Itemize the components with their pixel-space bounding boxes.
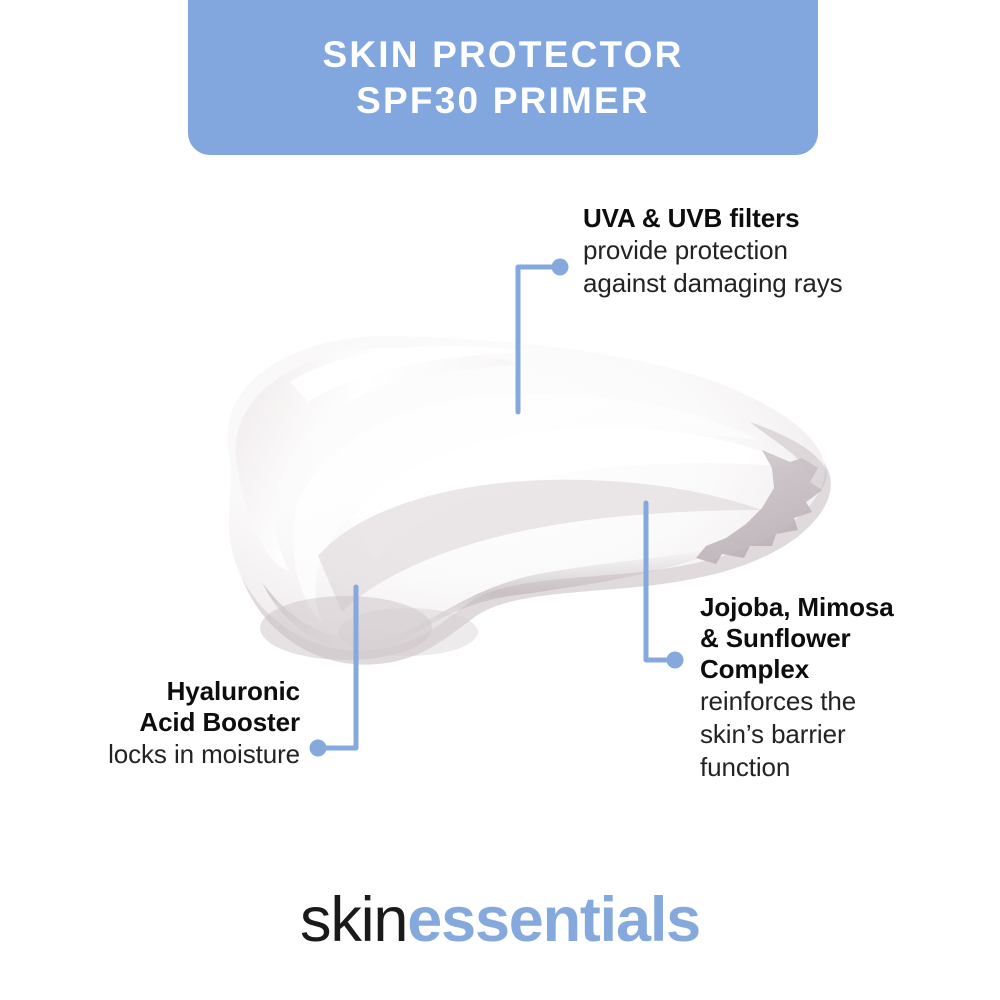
callout-hyaluronic-bold-line-1: Hyaluronic [20, 676, 300, 707]
callout-jojoba-bold-line-1: Jojoba, Mimosa [700, 592, 955, 623]
callout-hyaluronic-text-line-1: locks in moisture [20, 738, 300, 771]
callout-jojoba-text-line-2: skin’s barrier [700, 718, 955, 751]
callout-uva-uvb-text-line-2: against damaging rays [583, 267, 913, 300]
brand-logo-part-1: skin [300, 885, 407, 955]
callout-jojoba-complex: Jojoba, Mimosa & Sunflower Complex reinf… [700, 592, 955, 784]
callout-jojoba-text-line-3: function [700, 751, 955, 784]
callout-uva-uvb: UVA & UVB filters provide protection aga… [583, 203, 913, 300]
connector-jojoba [646, 503, 684, 669]
header-banner: SKIN PROTECTOR SPF30 PRIMER [188, 0, 818, 155]
connector-uva-uvb [518, 259, 569, 413]
banner-title-line-1: SKIN PROTECTOR [322, 32, 683, 78]
callout-jojoba-bold-line-2: & Sunflower [700, 623, 955, 654]
callout-hyaluronic-bold-line-2: Acid Booster [20, 707, 300, 738]
connector-hyaluronic [310, 587, 357, 757]
callout-uva-uvb-text-line-1: provide protection [583, 234, 913, 267]
brand-logo-part-2: essentials [407, 885, 700, 955]
callout-hyaluronic: Hyaluronic Acid Booster locks in moistur… [20, 676, 300, 771]
banner-title-line-2: SPF30 PRIMER [356, 78, 650, 124]
brand-logo: skinessentials [0, 884, 1000, 956]
callout-jojoba-text-line-1: reinforces the [700, 685, 955, 718]
callout-jojoba-bold-line-3: Complex [700, 654, 955, 685]
callout-uva-uvb-bold-line-1: UVA & UVB filters [583, 203, 913, 234]
infographic-page: SKIN PROTECTOR SPF30 PRIMER [0, 0, 1000, 1000]
